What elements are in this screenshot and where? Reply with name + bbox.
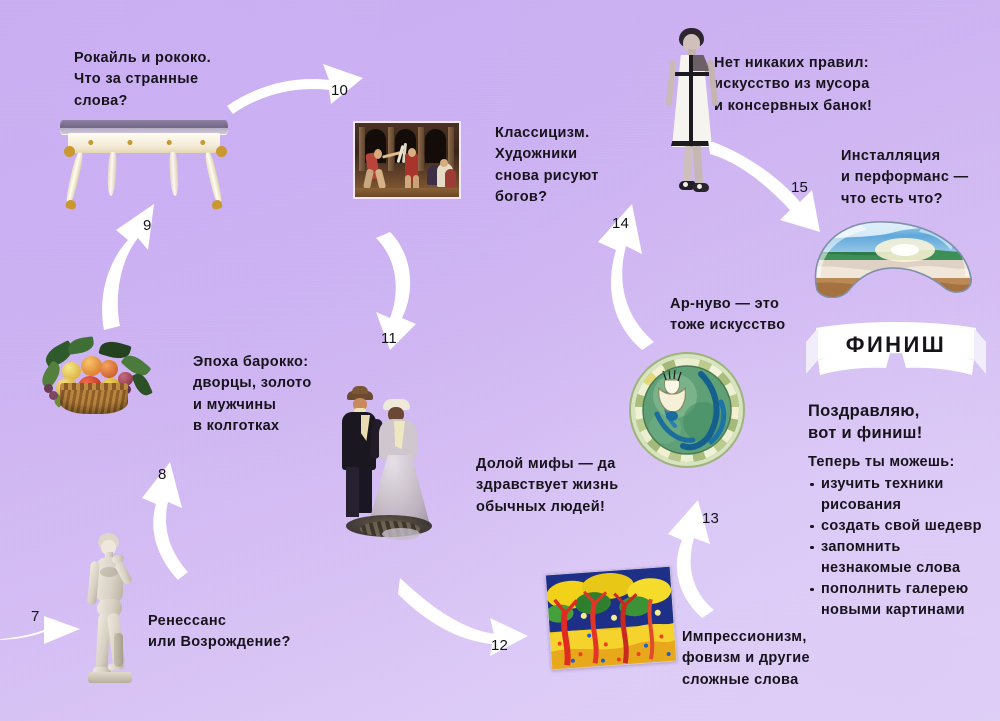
arrow-9-number: 9 — [143, 217, 152, 234]
arrow-15 — [708, 136, 838, 226]
label-classicism: Классицизм. Художники снова рисуют богов… — [495, 123, 599, 209]
label-art-nouveau: Ар-нуво — это тоже искусство — [670, 294, 785, 337]
finish-subheading: Теперь ты можешь: — [808, 454, 994, 470]
arrow-7-number: 7 — [31, 608, 40, 625]
poster-canvas: Рокайль и рококо. Что за странные слова?… — [0, 0, 1000, 721]
arrow-13-number: 13 — [702, 510, 719, 527]
arrow-11-number: 11 — [381, 330, 397, 347]
image-bean-sculpture — [805, 216, 977, 298]
image-fruit-basket — [38, 338, 158, 424]
image-fauvist-painting — [545, 566, 677, 671]
label-rococo: Рокайль и рококо. Что за странные слова? — [74, 48, 211, 112]
finish-ribbon: ФИНИШ — [806, 320, 986, 382]
image-horatii-painting — [353, 121, 461, 199]
image-stained-glass — [635, 358, 739, 462]
label-installation: Инсталляция и перформанс — что есть что? — [841, 146, 969, 210]
label-baroque: Эпоха барокко: дворцы, золото и мужчины … — [193, 352, 312, 438]
arrow-10-number: 10 — [331, 82, 348, 99]
arrow-15-number: 15 — [791, 179, 808, 196]
finish-list-item: запомнить незнакомые слова — [808, 537, 994, 579]
finish-ribbon-label: ФИНИШ — [806, 332, 986, 358]
arrow-9 — [98, 200, 178, 330]
arrow-12-number: 12 — [491, 637, 508, 654]
finish-list-item: пополнить галерею новыми картинами — [808, 579, 994, 621]
finish-panel: Поздравляю, вот и финиш! Теперь ты можеш… — [808, 400, 994, 621]
label-impressionism: Импрессионизм, фовизм и другие сложные с… — [682, 627, 810, 691]
arrow-14-number: 14 — [612, 215, 629, 232]
arrow-13 — [666, 498, 736, 618]
arrow-11 — [368, 232, 438, 352]
arrow-8-number: 8 — [158, 466, 167, 483]
label-realism: Долой мифы — да здравствует жизнь обычны… — [476, 454, 619, 518]
arrow-12 — [398, 578, 533, 668]
image-rococo-table — [60, 112, 230, 212]
label-trash-art: Нет никаких правил: искусство из мусора … — [714, 53, 872, 117]
arrow-8 — [140, 446, 220, 580]
arrow-14 — [592, 200, 672, 350]
label-renaissance: Ренессанс или Возрождение? — [148, 611, 291, 654]
finish-list-item: создать свой шедевр — [808, 516, 994, 537]
finish-heading: Поздравляю, вот и финиш! — [808, 400, 994, 445]
image-victorian-couple — [330, 385, 450, 560]
finish-list-item: изучить техники рисования — [808, 474, 994, 516]
arrow-7 — [0, 596, 94, 652]
finish-list: изучить техники рисования создать свой ш… — [808, 474, 994, 621]
